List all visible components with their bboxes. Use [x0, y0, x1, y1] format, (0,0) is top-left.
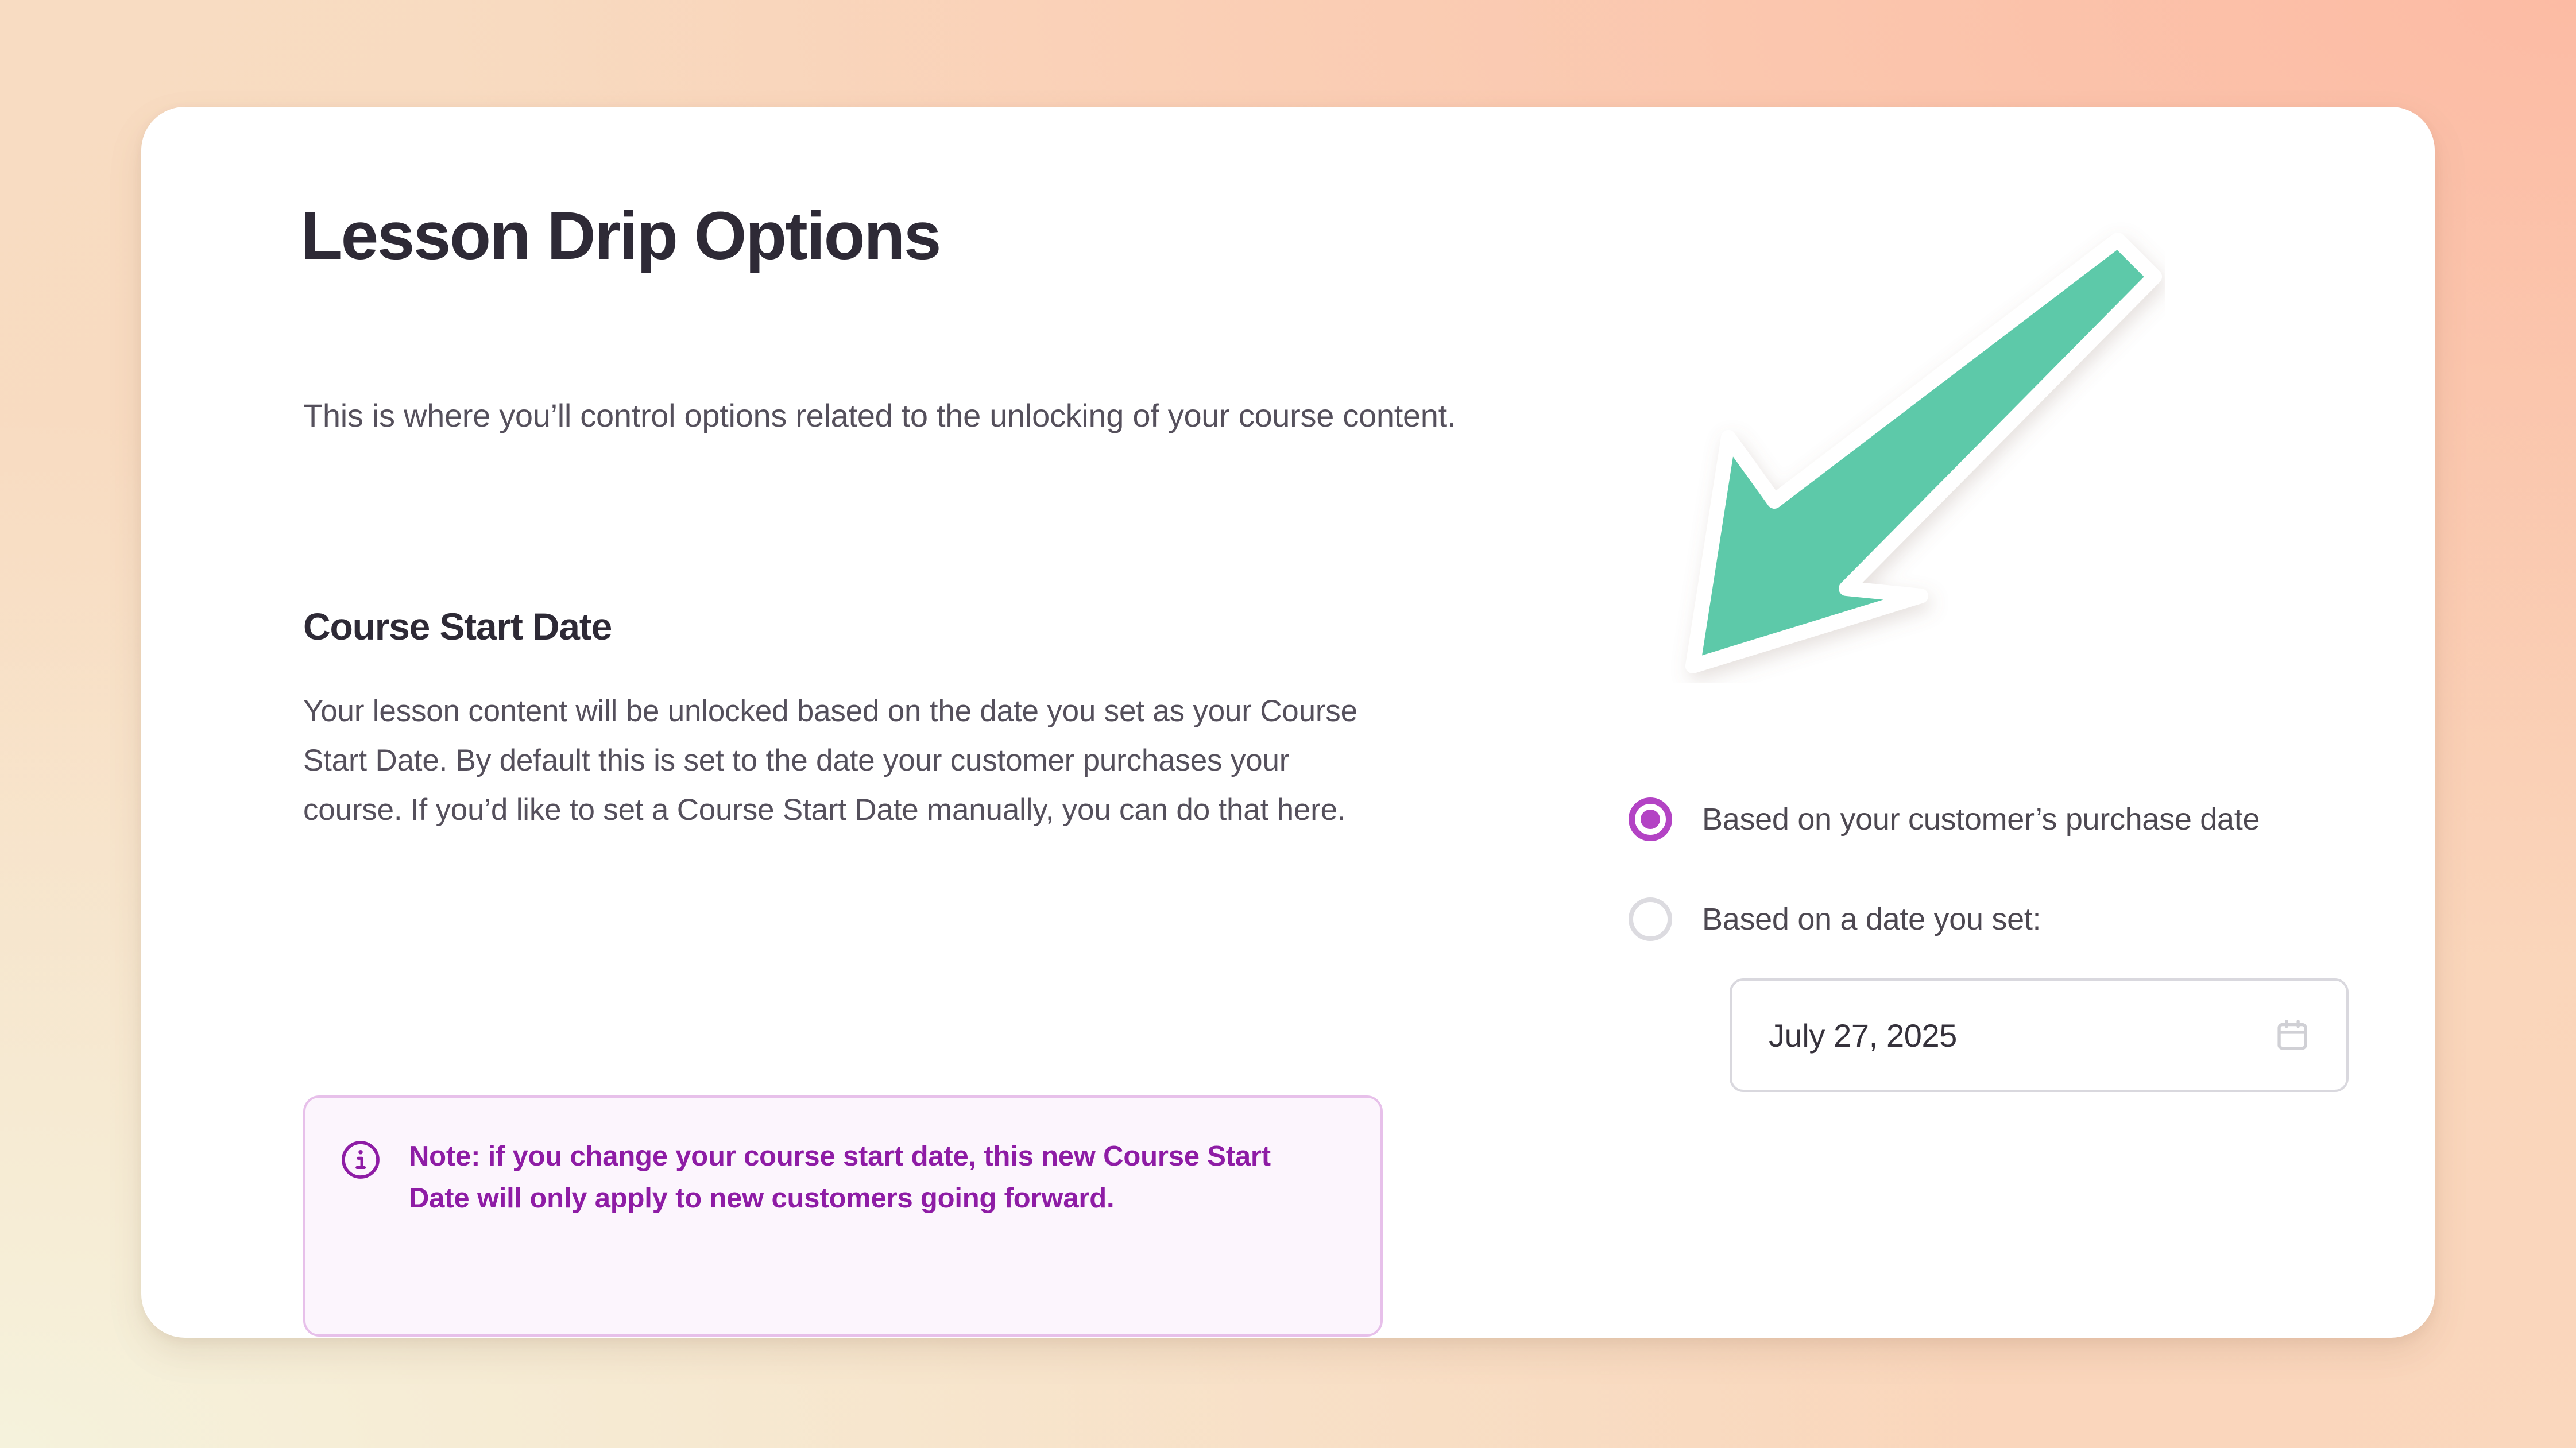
radio-option-purchase-date[interactable]: Based on your customer’s purchase date — [1629, 795, 2260, 844]
info-circle-icon — [340, 1139, 381, 1180]
section-heading: Course Start Date — [303, 607, 1406, 645]
radio-label-purchase-date: Based on your customer’s purchase date — [1702, 802, 2260, 837]
note-text: Note: if you change your course start da… — [409, 1136, 1293, 1219]
course-start-date-options: Based on your customer’s purchase date B… — [1629, 795, 2260, 944]
calendar-icon[interactable] — [2274, 1017, 2311, 1054]
radio-option-custom-date[interactable]: Based on a date you set: — [1629, 895, 2260, 944]
page-subtitle: This is where you’ll control options rel… — [303, 397, 1456, 434]
lesson-drip-options-card: Lesson Drip Options This is where you’ll… — [141, 107, 2435, 1338]
radio-button-selected[interactable] — [1629, 797, 1672, 841]
section-body-text: Your lesson content will be unlocked bas… — [303, 687, 1383, 835]
page-title: Lesson Drip Options — [301, 202, 940, 270]
course-start-date-input[interactable]: July 27, 2025 — [1730, 978, 2349, 1092]
note-callout: Note: if you change your course start da… — [303, 1095, 1383, 1337]
radio-label-custom-date: Based on a date you set: — [1702, 901, 2041, 937]
date-input-value: July 27, 2025 — [1769, 1017, 1957, 1054]
radio-button-unselected[interactable] — [1629, 897, 1672, 941]
course-start-date-section: Course Start Date Your lesson content wi… — [303, 607, 1406, 835]
